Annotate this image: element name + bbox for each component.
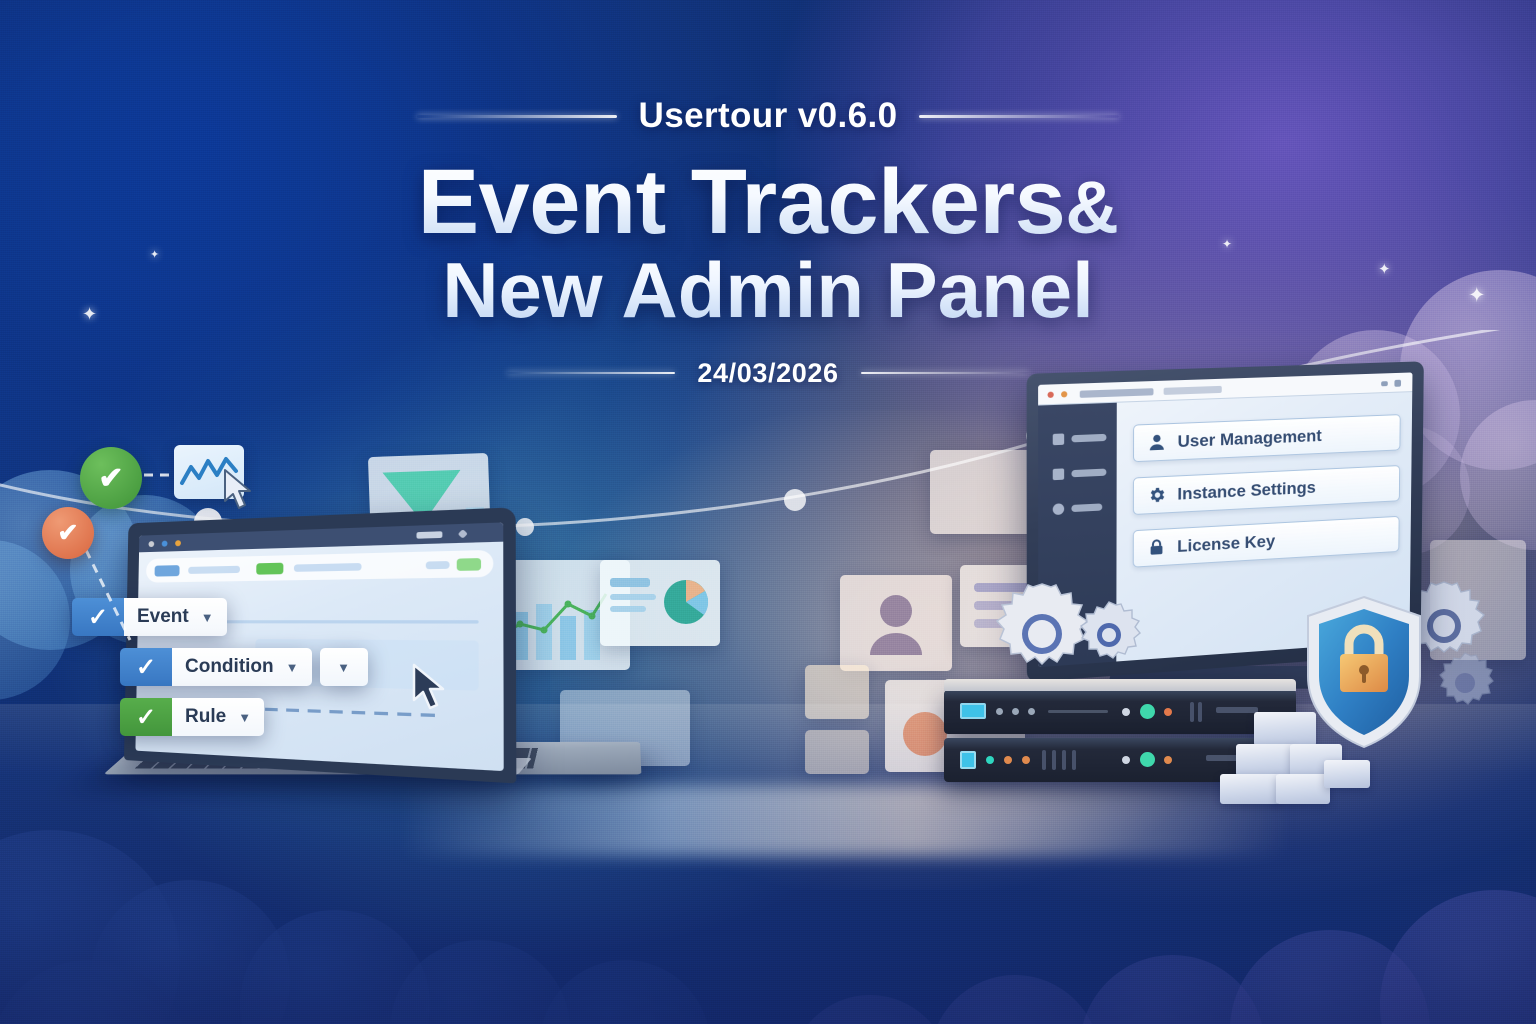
server-led bbox=[1122, 756, 1130, 764]
security-shield-icon bbox=[1300, 592, 1428, 752]
sidebar-item-label bbox=[1071, 469, 1106, 478]
server-led-warn bbox=[1022, 756, 1030, 764]
release-banner: ✦ ✦ ✦ ✦ ✦ Usertour v0.6.0 Event Trackers… bbox=[0, 0, 1536, 1024]
admin-item-license-key[interactable]: License Key bbox=[1133, 516, 1400, 568]
date-row: 24/03/2026 bbox=[0, 358, 1536, 389]
admin-item-label: Instance Settings bbox=[1177, 477, 1316, 504]
window-dot-close[interactable] bbox=[1048, 392, 1054, 398]
server-vent bbox=[1052, 750, 1056, 770]
titlebar-bar bbox=[1080, 388, 1154, 398]
server-led bbox=[996, 708, 1003, 715]
server-led bbox=[1028, 708, 1035, 715]
server-unit-top bbox=[944, 690, 1296, 734]
server-display bbox=[960, 703, 986, 719]
check-icon: ✔ bbox=[98, 461, 123, 496]
admin-item-label: License Key bbox=[1177, 531, 1275, 557]
titlebar-icon bbox=[458, 529, 468, 538]
version-label: Usertour v0.6.0 bbox=[639, 96, 898, 136]
server-handle bbox=[1216, 707, 1258, 713]
date-rule-left bbox=[507, 372, 675, 374]
server-vent bbox=[1198, 702, 1202, 722]
status-badge-alert: ✔ bbox=[42, 507, 94, 559]
lock-icon bbox=[1147, 538, 1166, 558]
sidebar-item-icon bbox=[1053, 433, 1064, 445]
server-top-panel bbox=[944, 679, 1296, 691]
server-vent bbox=[1042, 750, 1046, 770]
title-ampersand: & bbox=[1065, 166, 1118, 249]
release-date: 24/03/2026 bbox=[697, 358, 838, 389]
toolbar-line bbox=[426, 561, 450, 569]
admin-item-instance-settings[interactable]: Instance Settings bbox=[1133, 465, 1400, 515]
server-vent bbox=[1072, 750, 1076, 770]
rule-right bbox=[919, 115, 1119, 118]
server-led-warn bbox=[1004, 756, 1012, 764]
user-icon bbox=[1147, 432, 1166, 452]
admin-item-user-management[interactable]: User Management bbox=[1133, 414, 1401, 462]
page-title-line2: New Admin Panel bbox=[0, 250, 1536, 332]
titlebar-pill bbox=[416, 531, 442, 538]
toolbar-chip-green bbox=[457, 558, 481, 571]
server-led-active bbox=[986, 756, 994, 764]
status-badge-success: ✔ bbox=[80, 447, 142, 509]
check-icon: ✔ bbox=[58, 518, 79, 548]
sidebar-item-icon bbox=[1053, 503, 1064, 515]
sidebar-item-label bbox=[1071, 503, 1102, 512]
server-led-warn bbox=[1164, 756, 1172, 764]
server-led-active bbox=[1140, 704, 1155, 719]
server-vent bbox=[1048, 710, 1108, 713]
gear-icon bbox=[1147, 485, 1166, 505]
server-vent bbox=[1062, 750, 1066, 770]
cursor-pointer-icon bbox=[222, 468, 258, 512]
window-dot-minimize[interactable] bbox=[1061, 391, 1067, 397]
server-vent bbox=[1190, 702, 1194, 722]
sidebar-item-label bbox=[1071, 434, 1106, 443]
version-row: Usertour v0.6.0 bbox=[0, 96, 1536, 136]
server-led bbox=[1122, 708, 1130, 716]
sidebar-item-icon bbox=[1053, 468, 1064, 480]
user-avatar-icon bbox=[840, 575, 952, 671]
admin-item-label: User Management bbox=[1178, 426, 1322, 452]
page-title-line1: Event Trackers& bbox=[0, 156, 1536, 248]
server-display bbox=[960, 751, 976, 769]
server-led-warn bbox=[1164, 708, 1172, 716]
title-line1-text: Event Trackers bbox=[418, 151, 1066, 253]
headline-block: Usertour v0.6.0 Event Trackers& New Admi… bbox=[0, 96, 1536, 389]
rule-left bbox=[417, 115, 617, 118]
gear-icon-small bbox=[1072, 598, 1146, 672]
date-rule-right bbox=[861, 372, 1029, 374]
server-led-active bbox=[1140, 752, 1155, 767]
server-led bbox=[1012, 708, 1019, 715]
